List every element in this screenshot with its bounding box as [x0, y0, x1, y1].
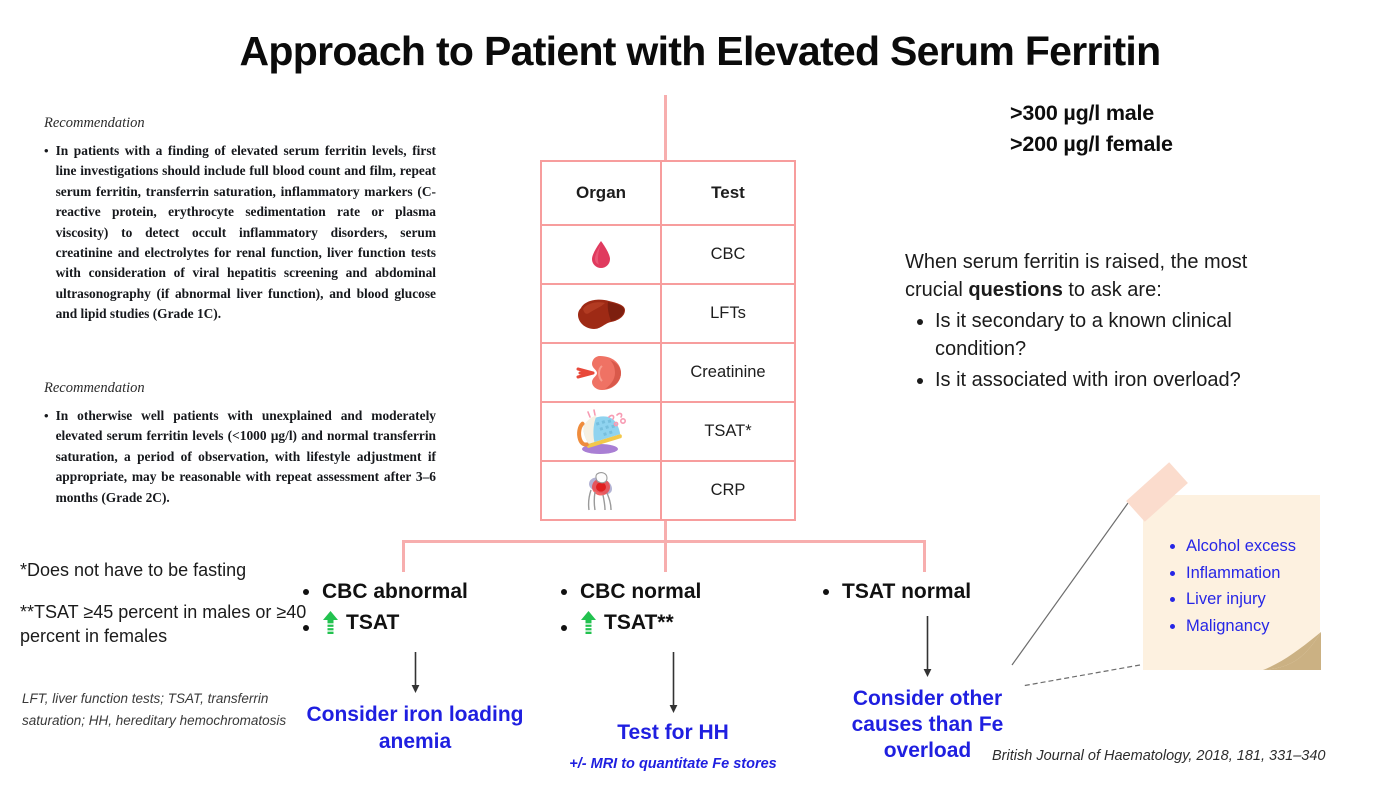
list-item: Alcohol excess	[1186, 533, 1296, 560]
footnote-tsat: **TSAT ≥45 percent in males or ≥40 perce…	[20, 600, 320, 649]
citation: British Journal of Haematology, 2018, 18…	[992, 748, 1325, 764]
finding-label: TSAT**	[604, 609, 674, 637]
increase-arrow-icon	[322, 611, 339, 634]
list-item: Malignancy	[1186, 613, 1296, 640]
test-name: Creatinine	[661, 343, 795, 402]
clothing-iron-icon	[541, 402, 661, 461]
questions-intro: When serum ferritin is raised, the most …	[905, 248, 1305, 305]
down-arrow-icon	[921, 616, 934, 678]
abbreviations-note: LFT, liver function tests; TSAT, transfe…	[22, 688, 292, 732]
branch-cbc-normal: CBC normal TSAT** Test for HH +/- MRI to…	[558, 578, 788, 772]
list-item: CBC normal	[580, 578, 788, 606]
list-item: Is it secondary to a known clinical cond…	[935, 307, 1305, 364]
finding-label: TSAT	[346, 609, 399, 637]
test-name: CBC	[661, 225, 795, 284]
branch-findings: CBC normal TSAT**	[558, 578, 788, 642]
list-item: Liver injury	[1186, 586, 1296, 613]
kidney-icon	[541, 343, 661, 402]
table-row: LFTs	[541, 284, 795, 343]
threshold-male: >300 µg/l male	[1010, 98, 1173, 129]
recommendation-body: • In otherwise well patients with unexpl…	[44, 406, 436, 508]
liver-icon	[541, 284, 661, 343]
questions-list: Is it secondary to a known clinical cond…	[905, 307, 1305, 394]
arrow-row: TSAT**	[580, 609, 674, 637]
flow-branch-drop-right	[923, 540, 926, 572]
down-arrow-icon	[409, 652, 422, 694]
branch-findings: CBC abnormal TSAT	[300, 578, 530, 642]
recommendation-text: In otherwise well patients with unexplai…	[56, 406, 436, 508]
bullet-marker: •	[44, 141, 49, 324]
questions-intro-bold: questions	[968, 279, 1062, 301]
test-name: LFTs	[661, 284, 795, 343]
page-title: Approach to Patient with Elevated Serum …	[0, 28, 1400, 75]
list-item: TSAT**	[580, 609, 788, 642]
table-row: Creatinine	[541, 343, 795, 402]
column-header-test: Test	[661, 161, 795, 225]
footnote-fasting: *Does not have to be fasting	[20, 560, 246, 581]
table-header-row: Organ Test	[541, 161, 795, 225]
table-row: CBC	[541, 225, 795, 284]
blood-drop-icon	[541, 225, 661, 284]
list-item: Inflammation	[1186, 560, 1296, 587]
table-row: CRP	[541, 461, 795, 520]
bullet-marker: •	[44, 406, 49, 508]
inflamed-shoulder-icon	[541, 461, 661, 520]
alternative-causes-list: Alcohol excess Inflammation Liver injury…	[1168, 533, 1296, 640]
recommendation-block-1: Recommendation • In patients with a find…	[44, 115, 436, 324]
list-item: CBC abnormal	[322, 578, 530, 606]
branch-outcome: Test for HH	[558, 720, 788, 746]
recommendation-text: In patients with a finding of elevated s…	[56, 141, 436, 324]
key-questions-block: When serum ferritin is raised, the most …	[905, 248, 1305, 394]
recommendation-block-2: Recommendation • In otherwise well patie…	[44, 380, 436, 508]
recommendation-heading: Recommendation	[44, 115, 436, 132]
list-item: TSAT	[322, 609, 530, 642]
increase-arrow-icon	[580, 611, 597, 634]
recommendation-body: • In patients with a finding of elevated…	[44, 141, 436, 324]
branch-cbc-abnormal: CBC abnormal TSAT Consider iron loading …	[300, 578, 530, 755]
test-name: CRP	[661, 461, 795, 520]
ferritin-threshold-block: >300 µg/l male >200 µg/l female	[1010, 98, 1173, 160]
branch-outcome: Consider iron loading anemia	[300, 702, 530, 755]
organ-test-table: Organ Test CBC LFTs	[540, 160, 796, 521]
infographic-canvas: Approach to Patient with Elevated Serum …	[0, 0, 1400, 788]
recommendation-heading: Recommendation	[44, 380, 436, 397]
list-item: Is it associated with iron overload?	[935, 366, 1305, 394]
questions-intro-after: to ask are:	[1063, 279, 1162, 301]
flow-branch-drop-left	[402, 540, 405, 572]
flow-branch-drop-center	[664, 540, 667, 572]
branch-outcome-sub: +/- MRI to quantitate Fe stores	[558, 756, 788, 772]
table-row: TSAT*	[541, 402, 795, 461]
test-name: TSAT*	[661, 402, 795, 461]
threshold-female: >200 µg/l female	[1010, 129, 1173, 160]
column-header-organ: Organ	[541, 161, 661, 225]
arrow-row: TSAT	[322, 609, 399, 637]
down-arrow-icon	[667, 652, 680, 714]
